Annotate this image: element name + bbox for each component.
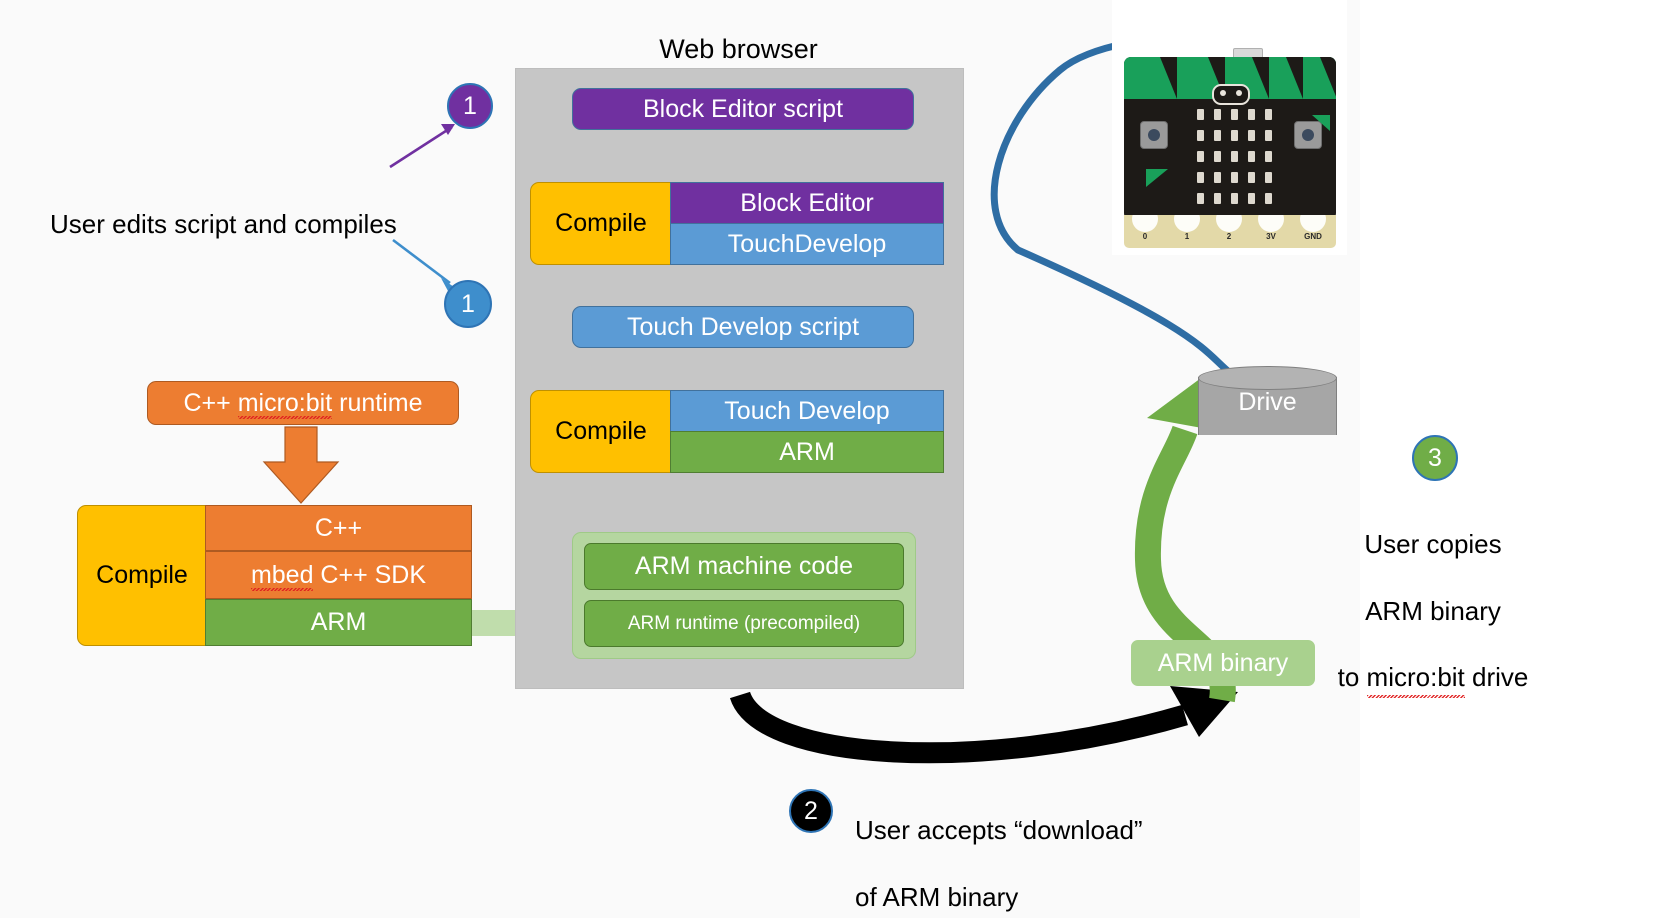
diagram-canvas: Web browser Block Editor script Compile … — [0, 0, 1663, 918]
layer-arm-box[interactable]: ARM — [205, 599, 472, 646]
arrow-to-step1-blue — [393, 240, 454, 291]
layer-cpp-box[interactable]: C++ — [205, 505, 472, 551]
microbit-edge-connector: 0 1 2 3V GND — [1124, 215, 1336, 248]
compile-1-source-label: Block Editor — [740, 190, 873, 216]
microbit-drive[interactable]: Drive — [1198, 366, 1337, 446]
microbit-pad-label: 0 — [1132, 232, 1158, 241]
compile-1-target-block[interactable]: TouchDevelop — [670, 223, 944, 265]
arm-runtime-label: ARM runtime (precompiled) — [628, 614, 860, 634]
microbit-accent-triangle — [1312, 115, 1330, 131]
compile-block-2[interactable]: Compile — [530, 390, 672, 473]
step-3-microbit-word: micro:bit — [1367, 661, 1465, 694]
layer-mbed-sdk-label: mbed C++ SDK — [251, 562, 426, 588]
compile-2-source-block[interactable]: Touch Develop — [670, 390, 944, 432]
cpp-microbit-runtime-box[interactable]: C++ micro:bit runtime — [147, 381, 459, 425]
microbit-led — [1231, 130, 1238, 141]
browser-title: Web browser — [515, 34, 962, 65]
microbit-led — [1197, 151, 1204, 162]
arm-machine-code-box[interactable]: ARM machine code — [584, 543, 904, 590]
microbit-led — [1197, 109, 1204, 120]
microbit-pad — [1132, 215, 1158, 232]
microbit-led — [1231, 193, 1238, 204]
microbit-led — [1265, 130, 1272, 141]
cpp-runtime-prefix: C++ — [184, 389, 238, 417]
compile-1-source-block[interactable]: Block Editor — [670, 182, 944, 224]
arm-binary-box[interactable]: ARM binary — [1131, 640, 1315, 686]
compile-block-cpp[interactable]: Compile — [77, 505, 207, 646]
microbit-led — [1214, 193, 1221, 204]
layer-mbed-sdk-box[interactable]: mbed C++ SDK — [205, 551, 472, 599]
microbit-led — [1248, 172, 1255, 183]
arm-binary-label: ARM binary — [1158, 650, 1289, 676]
microbit-led — [1248, 193, 1255, 204]
microbit-led — [1248, 151, 1255, 162]
cpp-microbit-runtime-label: C++ micro:bit runtime — [184, 390, 423, 416]
arm-runtime-box[interactable]: ARM runtime (precompiled) — [584, 600, 904, 647]
layer-arm-label: ARM — [311, 609, 367, 635]
microbit-notch — [1160, 57, 1177, 99]
microbit-board — [1124, 57, 1336, 220]
mbed-word: mbed — [251, 562, 314, 588]
microbit-led — [1231, 151, 1238, 162]
arrow-to-step1-purple — [390, 124, 455, 167]
compile-1-target-label: TouchDevelop — [728, 231, 886, 257]
microbit-notch — [1286, 57, 1303, 99]
step-1-blue-number: 1 — [461, 290, 475, 319]
block-editor-script-box[interactable]: Block Editor script — [572, 88, 914, 130]
step-3-caption: User copies ARM binary to micro:bit driv… — [1288, 495, 1578, 728]
microbit-pad-label: GND — [1300, 232, 1326, 241]
compile-block-1[interactable]: Compile — [530, 182, 672, 265]
drive-top-ellipse — [1198, 366, 1337, 390]
step-3-badge: 3 — [1412, 435, 1458, 481]
microbit-led — [1248, 109, 1255, 120]
step-1-caption: User edits script and compiles — [50, 175, 470, 242]
step-1-purple-number: 1 — [463, 92, 477, 121]
microbit-led — [1231, 172, 1238, 183]
step-3-caption-line1: User copies — [1288, 528, 1578, 561]
arrow-cpp-runtime-to-compile — [264, 427, 338, 503]
layer-cpp-label: C++ — [315, 515, 362, 541]
step-2-caption-line2: of ARM binary — [855, 881, 1275, 914]
microbit-led — [1214, 130, 1221, 141]
compile-cpp-label: Compile — [96, 562, 188, 588]
arm-machine-code-label: ARM machine code — [635, 553, 853, 579]
mbed-suffix: C++ SDK — [313, 561, 426, 589]
step-2-caption-line1: User accepts “download” — [855, 814, 1275, 847]
microbit-led — [1265, 172, 1272, 183]
microbit-led — [1265, 151, 1272, 162]
arrow-download-to-arm-binary — [740, 686, 1238, 753]
microbit-led — [1197, 172, 1204, 183]
microbit-pad-label: 2 — [1216, 232, 1242, 241]
step-3-caption-line3: to micro:bit drive — [1288, 661, 1578, 694]
microbit-led — [1214, 109, 1221, 120]
step-2-number: 2 — [804, 797, 818, 826]
microbit-notch — [1320, 57, 1336, 99]
microbit-led — [1231, 109, 1238, 120]
microbit-pad-label: 1 — [1174, 232, 1200, 241]
compile-1-label: Compile — [555, 210, 647, 236]
microbit-accent-triangle — [1146, 169, 1168, 187]
step-3-number: 3 — [1428, 444, 1442, 473]
microbit-led — [1197, 193, 1204, 204]
touch-develop-script-box[interactable]: Touch Develop script — [572, 306, 914, 348]
microbit-pad — [1258, 215, 1284, 232]
step-1-purple-badge: 1 — [447, 83, 493, 129]
cpp-runtime-microbit-word: micro:bit — [238, 390, 332, 416]
compile-2-target-label: ARM — [779, 439, 835, 465]
block-editor-script-label: Block Editor script — [643, 96, 843, 122]
cpp-runtime-suffix: runtime — [332, 389, 422, 417]
microbit-notch — [1252, 57, 1269, 99]
step-2-badge: 2 — [789, 789, 833, 833]
compile-2-label: Compile — [555, 418, 647, 444]
microbit-led — [1197, 130, 1204, 141]
microbit-button-a[interactable] — [1140, 121, 1168, 149]
compile-2-source-label: Touch Develop — [724, 398, 889, 424]
step-3-line3-prefix: to — [1338, 662, 1367, 692]
microbit-pad-label: 3V — [1258, 232, 1284, 241]
microbit-led — [1248, 130, 1255, 141]
microbit-led — [1214, 172, 1221, 183]
step-3-line3-suffix: drive — [1465, 662, 1529, 692]
touch-develop-script-label: Touch Develop script — [627, 314, 859, 340]
drive-label: Drive — [1198, 388, 1337, 417]
microbit-led — [1214, 151, 1221, 162]
microbit-led — [1265, 109, 1272, 120]
microbit-led — [1265, 193, 1272, 204]
microbit-pad — [1216, 215, 1242, 232]
microbit-pad — [1174, 215, 1200, 232]
step-1-caption-text: User edits script and compiles — [50, 209, 397, 239]
step-3-caption-line2: ARM binary — [1288, 595, 1578, 628]
microbit-logo-icon — [1212, 84, 1250, 105]
compile-2-target-block[interactable]: ARM — [670, 431, 944, 473]
step-2-caption: User accepts “download” of ARM binary — [855, 781, 1275, 918]
microbit-board-photo: 0 1 2 3V GND — [1112, 0, 1347, 255]
step-1-blue-badge: 1 — [444, 280, 492, 328]
microbit-pad — [1300, 215, 1326, 232]
